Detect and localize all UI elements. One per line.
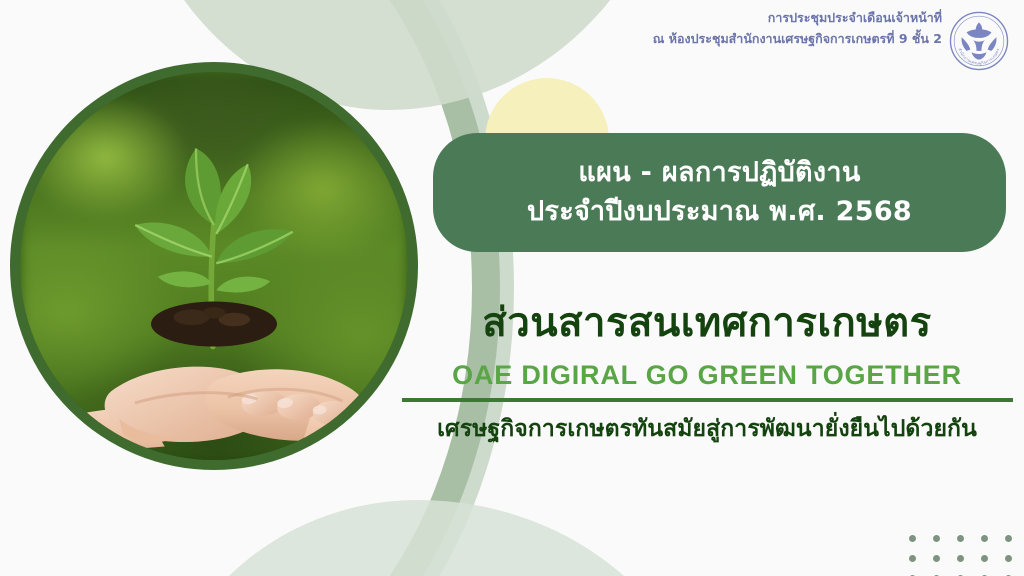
department-title: ส่วนสารสนเทศการเกษตร: [390, 300, 1024, 346]
dot: [909, 555, 916, 562]
header: การประชุมประจำเดือนเจ้าหน้าที่ ณ ห้องประ…: [653, 8, 1010, 72]
title-pill-line-1: แผน - ผลการปฏิบัติงาน: [578, 154, 860, 192]
dot: [1005, 555, 1012, 562]
title-pill-line-2: ประจำปีงบประมาณ พ.ศ. 2568: [527, 193, 912, 231]
slogan-english: OAE DIGIRAL GO GREEN TOGETHER: [390, 360, 1024, 391]
slogan-thai: เศรษฐกิจการเกษตรทันสมัยสู่การพัฒนายั่งยื…: [390, 411, 1024, 447]
seedling-photo-ring: [10, 62, 418, 470]
dot: [1005, 535, 1012, 542]
header-line-1: การประชุมประจำเดือนเจ้าหน้าที่: [653, 8, 942, 29]
sage-swoosh-bottom-decoration: [150, 500, 710, 576]
hands-illustration: [20, 243, 408, 460]
dot: [909, 535, 916, 542]
dot: [981, 535, 988, 542]
lower-text-block: ส่วนสารสนเทศการเกษตร OAE DIGIRAL GO GREE…: [390, 300, 1024, 447]
title-pill: แผน - ผลการปฏิบัติงาน ประจำปีงบประมาณ พ.…: [433, 133, 1006, 252]
divider-rule: [402, 398, 1013, 402]
dot: [981, 555, 988, 562]
dot: [957, 535, 964, 542]
header-meeting-info: การประชุมประจำเดือนเจ้าหน้าที่ ณ ห้องประ…: [653, 8, 942, 49]
dot: [957, 555, 964, 562]
header-line-2: ณ ห้องประชุมสำนักงานเศรษฐกิจการเกษตรที่ …: [653, 29, 942, 50]
dot: [933, 555, 940, 562]
dot: [933, 535, 940, 542]
hands-holding-seedling-photo: [20, 72, 408, 460]
thai-government-garuda-seal-icon: สำนักงานเศรษฐกิจการเกษตร: [948, 10, 1010, 72]
dot-grid-decoration: [900, 528, 1024, 576]
presentation-slide: การประชุมประจำเดือนเจ้าหน้าที่ ณ ห้องประ…: [0, 0, 1024, 576]
